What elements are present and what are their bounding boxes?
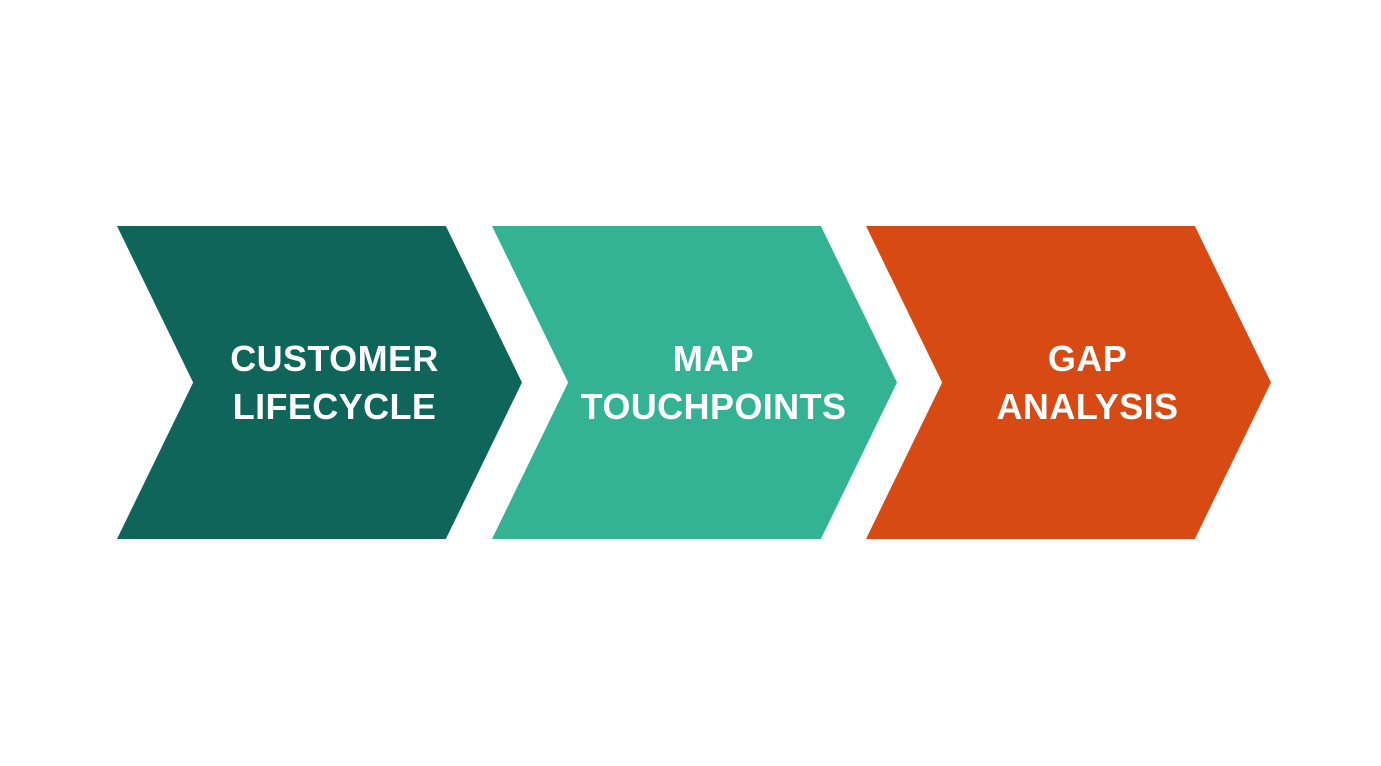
chevron-step-1[interactable]: CUSTOMER LIFECYCLE xyxy=(117,226,522,539)
chevron-step-2[interactable]: MAP TOUCHPOINTS xyxy=(492,226,897,539)
diagram-canvas: CUSTOMER LIFECYCLE MAP TOUCHPOINTS GAP A… xyxy=(0,0,1381,766)
chevron-step-3[interactable]: GAP ANALYSIS xyxy=(866,226,1271,539)
chevron-step-3-label: GAP ANALYSIS xyxy=(866,335,1271,431)
chevron-step-1-label: CUSTOMER LIFECYCLE xyxy=(117,335,522,431)
chevron-step-2-label: MAP TOUCHPOINTS xyxy=(492,335,897,431)
chevron-process-flow: CUSTOMER LIFECYCLE MAP TOUCHPOINTS GAP A… xyxy=(0,0,1381,766)
